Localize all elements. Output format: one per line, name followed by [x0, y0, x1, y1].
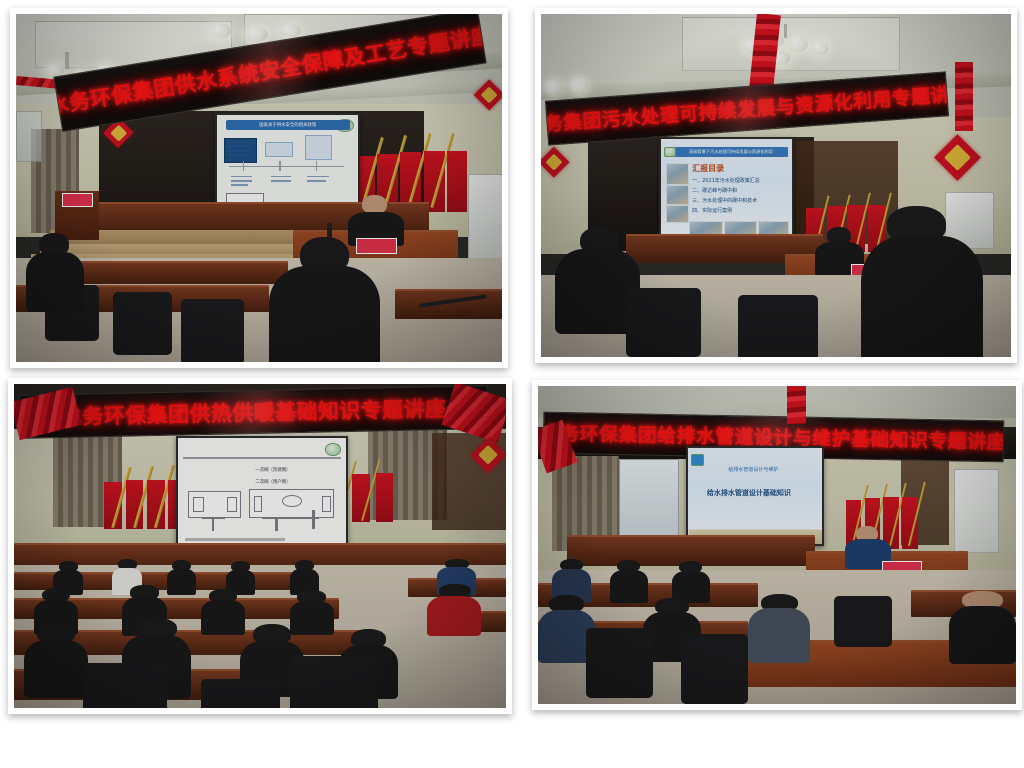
slide-thumbnail: [666, 163, 689, 185]
audience-member: [24, 623, 88, 694]
schematic-pump: [282, 495, 302, 507]
photo-top-left: 水务环保集团供水系统安全保障及工艺专题讲座 国家关于供水安全的相关政策: [10, 8, 508, 368]
audience-member: [949, 591, 1016, 660]
photo-bottom-left: 水务环保集团供热供暖基础知识专题讲座: [8, 378, 512, 714]
audience-desk: [395, 289, 502, 319]
chair: [834, 596, 891, 647]
slide-title: 双碳背景下污水处理可持续发展与资源化利用: [674, 147, 789, 157]
timeline-axis: [229, 166, 345, 167]
agenda-item: 四、实际运行案例: [692, 207, 732, 214]
schematic-block: [254, 496, 263, 513]
projector-screen: 给排水管道设计与维护 给水排水管道设计基础知识: [686, 446, 824, 545]
slide-title: 国家关于供水安全的相关政策: [226, 120, 350, 130]
photo-bottom-right-content: 水务环保集团给排水管道设计与维护基础知识专题讲座 给排水管道设计与维护: [538, 386, 1016, 704]
slide-callout-box: [305, 135, 332, 160]
water-cooler: [468, 174, 502, 260]
schematic-block: [227, 497, 237, 513]
audience-member: [861, 206, 983, 357]
slide-logo-icon: [664, 147, 675, 157]
photo-top-right: 水务集团污水处理可持续发展与资源化利用专题讲座 双碳背景下污水处理可持续发展与资…: [535, 8, 1017, 363]
schematic-block: [193, 497, 203, 513]
slide-label: 一次网（热源侧）: [255, 467, 290, 473]
slide-divider: [183, 457, 340, 459]
agenda-item: 二、碳达峰与碳中和: [692, 187, 737, 194]
slide-logo-icon: [691, 454, 704, 466]
chair: [586, 628, 653, 698]
chair: [113, 292, 171, 355]
chair: [738, 295, 818, 357]
chair: [626, 288, 701, 357]
slide-thumbnail: [666, 185, 689, 205]
chair: [290, 656, 379, 708]
slide-thumbnail: [666, 205, 689, 223]
window: [619, 459, 678, 544]
agenda-item: 三、污水处理中的碳中和技术: [692, 197, 757, 204]
window: [16, 111, 42, 162]
photo-collage: 水务环保集团供水系统安全保障及工艺专题讲座 国家关于供水安全的相关政策: [0, 0, 1024, 768]
photo-top-left-content: 水务环保集团供水系统安全保障及工艺专题讲座 国家关于供水安全的相关政策: [16, 14, 502, 362]
audience-member: [269, 237, 381, 362]
slide-logo-icon: [325, 443, 340, 455]
water-cooler: [954, 469, 999, 554]
podium-sign: [62, 193, 93, 207]
new-year-garland: [955, 62, 974, 131]
slide-heading: 汇报目录: [692, 163, 724, 174]
audience-member: [748, 594, 810, 660]
slide-main-title: 给水排水管道设计基础知识: [707, 488, 791, 498]
photo-bottom-left-content: 水务环保集团供热供暖基础知识专题讲座: [14, 384, 506, 708]
schematic-block: [322, 496, 331, 513]
chair: [681, 634, 748, 704]
projector-screen: 一次网（热源侧） 二次网（用户侧）: [176, 436, 347, 553]
slide-label: 二次网（用户侧）: [255, 479, 290, 485]
audience-member: [26, 233, 84, 310]
chair: [181, 299, 244, 362]
photo-bottom-right: 水务环保集团给排水管道设计与维护基础知识专题讲座 给排水管道设计与维护: [532, 380, 1022, 710]
projector-screen: 国家关于供水安全的相关政策: [215, 113, 360, 206]
photo-top-right-content: 水务集团污水处理可持续发展与资源化利用专题讲座 双碳背景下污水处理可持续发展与资…: [541, 14, 1011, 357]
agenda-item: 一、2021年污水处理政策汇总: [692, 177, 760, 184]
projector-screen: 双碳背景下污水处理可持续发展与资源化利用 汇报目录 一、2021年污水处理政策汇…: [659, 137, 795, 240]
slide-subtitle: 给排水管道设计与维护: [728, 466, 778, 473]
new-year-garland: [787, 386, 806, 424]
chair: [201, 679, 280, 708]
slide-callout-box: [265, 142, 292, 157]
chair: [83, 663, 167, 708]
